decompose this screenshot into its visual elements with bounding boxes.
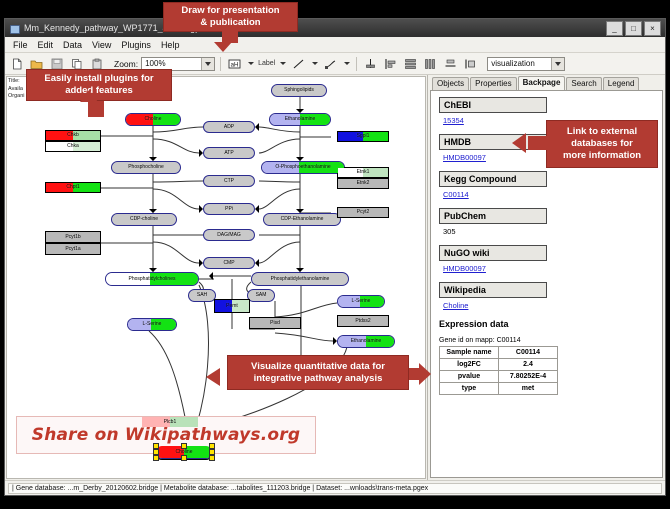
maximize-button[interactable]: □ (625, 21, 642, 36)
minimize-button[interactable]: _ (606, 21, 623, 36)
table-row: typemet (440, 383, 558, 395)
callout-line: Draw for presentation (181, 5, 279, 17)
db-value-nugo-wiki[interactable]: HMDB00097 (443, 264, 654, 273)
node-label: CDP-choline (130, 217, 158, 222)
selection-handle[interactable] (181, 455, 187, 461)
metabolite-node-choline_top[interactable]: Choline (125, 113, 181, 126)
table-row: Sample nameC00114 (440, 347, 558, 359)
side-panel-tabs: ObjectsPropertiesBackpageSearchLegend (428, 75, 665, 90)
interaction-tool-icon[interactable] (322, 55, 339, 72)
callout-arrow-tail (214, 42, 232, 52)
menu-item-data[interactable]: Data (58, 40, 87, 50)
callout-line: databases for (563, 138, 641, 150)
callout-draw: Draw for presentation& publication (163, 2, 298, 32)
expr-key: pvalue (440, 371, 499, 383)
callout-text: Easily install plugins foradded features (44, 73, 153, 97)
visualization-chevron-down-icon[interactable] (551, 58, 564, 70)
gene-node-sgpl1[interactable]: Sgpl1 (337, 131, 389, 142)
node-label: Pcyt1b (65, 235, 80, 240)
metabolite-node-ophosphoethanol[interactable]: O-Phosphoethanolamine (261, 161, 345, 174)
node-label: Phosphocholine (128, 165, 164, 170)
expression-data-title: Expression data (439, 319, 654, 329)
metabolite-node-lserine_left[interactable]: L-Serine (127, 318, 177, 331)
node-label: SAM (256, 293, 267, 298)
tab-objects[interactable]: Objects (432, 77, 469, 90)
node-label: O-Phosphoethanolamine (275, 165, 330, 170)
title-bar: Mm_Kennedy_pathway_WP1771_45176.gpml _ □… (5, 19, 665, 37)
gene-node-chpt1[interactable]: Chpt1 (45, 182, 101, 193)
menu-item-file[interactable]: File (8, 40, 33, 50)
text-box-dropdown-icon[interactable] (246, 55, 255, 72)
window-title: Mm_Kennedy_pathway_WP1771_45176.gpml (24, 23, 606, 33)
node-label: ADP (224, 125, 234, 130)
node-label: SAH (197, 293, 207, 298)
db-header-chebi: ChEBI (439, 97, 547, 113)
status-bar: | Gene database: ...m_Derby_20120602.bri… (5, 480, 665, 495)
db-value-kegg-compound[interactable]: C00114 (443, 190, 654, 199)
callout-line: & publication (181, 17, 279, 29)
gene-node-pisd[interactable]: Pisd (249, 317, 301, 329)
node-label: Phosphatidylethanolamine (271, 277, 330, 282)
toolbar-separator (220, 57, 221, 71)
node-label: Chpt1 (66, 185, 79, 190)
node-label: ATP (224, 151, 233, 156)
node-label: Ptdss2 (355, 319, 370, 324)
toolbar-separator-2 (356, 57, 357, 71)
metabolite-node-choline_sel[interactable]: Choline (155, 445, 213, 459)
menu-item-edit[interactable]: Edit (33, 40, 59, 50)
callout-arrow-tail (80, 90, 98, 102)
table-row: pvalue7.80252E-4 (440, 371, 558, 383)
gene-node-pemt[interactable]: Pemt (214, 299, 250, 313)
metabolite-node-ethanolamine[interactable]: Ethanolamine (269, 113, 331, 126)
node-label: Pcyt2 (357, 210, 370, 215)
chevron-down-icon[interactable] (201, 58, 214, 70)
gene-node-pcyt1a[interactable]: Pcyt1a (45, 243, 101, 255)
line-dropdown-icon[interactable] (310, 55, 319, 72)
gene-node-etnk1[interactable]: Etnk1 (337, 167, 389, 178)
callout-line: added features (44, 85, 153, 97)
callout-text: Draw for presentation& publication (181, 5, 279, 29)
callout-stem (409, 368, 419, 380)
info-avail-label: Availa (8, 86, 25, 94)
callout-visualize: Visualize quantitative data forintegrati… (227, 355, 409, 390)
node-label: Pemt (226, 304, 238, 309)
node-label: PPi (225, 207, 233, 212)
db-value-wikipedia[interactable]: Choline (443, 301, 654, 310)
node-label: Plcb1 (164, 420, 177, 425)
callout-stem (88, 101, 104, 117)
label-dropdown-icon[interactable] (278, 55, 287, 72)
callout-link: Link to externaldatabases formore inform… (546, 120, 658, 168)
interaction-dropdown-icon[interactable] (342, 55, 351, 72)
node-label: Sgpl1 (357, 134, 370, 139)
metabolite-node-lserine_right[interactable]: L-Serine (337, 295, 385, 308)
align-top-icon[interactable] (362, 55, 379, 72)
line-tool-icon[interactable] (290, 55, 307, 72)
metabolite-node-sphingolipids[interactable]: Sphingolipids (271, 84, 327, 97)
callout-stem (528, 136, 548, 150)
metabolite-node-phosphocholine[interactable]: Phosphocholine (111, 161, 181, 174)
metabolite-node-ctp[interactable]: CTP (203, 175, 255, 187)
status-text: | Gene database: ...m_Derby_20120602.bri… (8, 483, 662, 494)
info-organism-label: Organi (8, 93, 25, 101)
size-icon[interactable] (462, 55, 479, 72)
new-file-icon[interactable] (8, 55, 25, 72)
tab-search[interactable]: Search (566, 77, 601, 90)
expr-key: Sample name (440, 347, 499, 359)
distribute-horizontal-icon[interactable] (422, 55, 439, 72)
expr-value: 7.80252E-4 (499, 371, 558, 383)
node-label: Phosphatidylcholines (129, 277, 176, 282)
gene-node-etnk2[interactable]: Etnk2 (337, 178, 389, 189)
selection-handle[interactable] (181, 443, 187, 449)
db-header-kegg-compound: Kegg Compound (439, 171, 547, 187)
screenshot-root: Mm_Kennedy_pathway_WP1771_45176.gpml _ □… (0, 0, 670, 509)
gene-node-pcyt2[interactable]: Pcyt2 (337, 207, 389, 218)
selection-handle[interactable] (209, 455, 215, 461)
callout-arrow-tail (512, 133, 526, 153)
pathway-info-labels: Title: Availa Organi (8, 78, 25, 101)
callout-text: Visualize quantitative data forintegrati… (251, 361, 385, 385)
metabolite-node-phosphatidylcholines[interactable]: Phosphatidylcholines (105, 272, 199, 286)
metabolite-node-ethanolamine_btm[interactable]: Ethanolamine (337, 335, 395, 348)
callout-line: Easily install plugins for (44, 73, 153, 85)
callout-line: Visualize quantitative data for (251, 361, 385, 373)
expr-key: log2FC (440, 359, 499, 371)
metabolite-node-cdpcholine[interactable]: CDP-choline (111, 213, 177, 226)
node-label: DAG/MAG (217, 233, 241, 238)
metabolite-node-dagmag[interactable]: DAG/MAG (203, 229, 255, 241)
node-label: CMP (223, 261, 234, 266)
node-label: Ethanolamine (285, 117, 316, 122)
menu-item-plugins[interactable]: Plugins (116, 40, 156, 50)
tab-legend[interactable]: Legend (603, 77, 640, 90)
node-label: Etnk2 (357, 181, 370, 186)
expression-table: Sample nameC00114log2FC2.4pvalue7.80252E… (439, 346, 558, 395)
callout-arrow-tail (419, 363, 431, 385)
db-header-wikipedia: Wikipedia (439, 282, 547, 298)
callout-line: more information (563, 150, 641, 162)
gene-node-chkb[interactable]: Chkb (45, 130, 101, 141)
expr-value: C00114 (499, 347, 558, 359)
menu-item-view[interactable]: View (87, 40, 116, 50)
node-label: Pisd (270, 321, 280, 326)
node-label: Etnk1 (357, 170, 370, 175)
callout-arrow-tail (206, 368, 220, 386)
metabolite-node-sah[interactable]: SAH (188, 289, 216, 302)
gene-node-pcyt1b[interactable]: Pcyt1b (45, 231, 101, 243)
expr-value: 2.4 (499, 359, 558, 371)
visualization-value: visualization (491, 59, 535, 68)
zoom-label: Zoom: (114, 59, 138, 69)
node-label: CTP (224, 179, 234, 184)
info-title-label: Title: (8, 78, 25, 86)
selection-handle[interactable] (153, 455, 159, 461)
label-tool-label[interactable]: Label (258, 60, 275, 67)
svg-text:aH: aH (231, 62, 239, 68)
gene-node-plcb1[interactable]: Plcb1 (141, 416, 199, 428)
window-controls: _ □ × (606, 21, 661, 36)
metabolite-node-sam[interactable]: SAM (247, 289, 275, 302)
expr-key: type (440, 383, 499, 395)
visualization-combobox[interactable]: visualization (487, 57, 565, 71)
expr-value: met (499, 383, 558, 395)
callout-line: Link to external (563, 126, 641, 138)
metabolite-node-cmp[interactable]: CMP (203, 257, 255, 269)
node-label: Choline (145, 117, 162, 122)
metabolite-node-adp[interactable]: ADP (203, 121, 255, 133)
zoom-value: 100% (145, 59, 165, 68)
tab-backpage[interactable]: Backpage (518, 76, 566, 90)
callout-text: Link to externaldatabases formore inform… (563, 126, 641, 162)
node-label: CDP-Ethanolamine (281, 217, 324, 222)
gene-node-ptdss2[interactable]: Ptdss2 (337, 315, 389, 327)
node-label: Ethanolamine (351, 339, 382, 344)
metabolite-node-atp[interactable]: ATP (203, 147, 255, 159)
node-label: Chkb (67, 133, 79, 138)
close-button[interactable]: × (644, 21, 661, 36)
text-box-icon[interactable]: aH (226, 55, 243, 72)
metabolite-node-ppi[interactable]: PPi (203, 203, 255, 215)
node-label: L-Serine (352, 299, 371, 304)
node-label: Chka (67, 144, 79, 149)
distribute-vertical-icon[interactable] (402, 55, 419, 72)
metabolite-node-phosphatidylethanolamine[interactable]: Phosphatidylethanolamine (251, 272, 349, 286)
callout-plugins: Easily install plugins foradded features (26, 69, 172, 101)
table-row: log2FC2.4 (440, 359, 558, 371)
node-label: Pcyt1a (65, 247, 80, 252)
node-label: Sphingolipids (284, 88, 314, 93)
gene-node-chka[interactable]: Chka (45, 141, 101, 152)
callout-line: integrative pathway analysis (251, 373, 385, 385)
node-label: Choline (176, 450, 193, 455)
gene-id-label: Gene id on mapp: C00114 (439, 337, 654, 344)
align-left-icon[interactable] (382, 55, 399, 72)
db-header-nugo-wiki: NuGO wiki (439, 245, 547, 261)
app-icon (9, 23, 20, 34)
stack-icon[interactable] (442, 55, 459, 72)
menu-item-help[interactable]: Help (156, 40, 185, 50)
menu-bar: File Edit Data View Plugins Help (5, 37, 665, 53)
db-value-pubchem: 305 (443, 227, 654, 236)
node-label: L-Serine (143, 322, 162, 327)
metabolite-node-cdpethanolamine[interactable]: CDP-Ethanolamine (263, 213, 341, 226)
tab-properties[interactable]: Properties (470, 77, 516, 90)
db-header-pubchem: PubChem (439, 208, 547, 224)
